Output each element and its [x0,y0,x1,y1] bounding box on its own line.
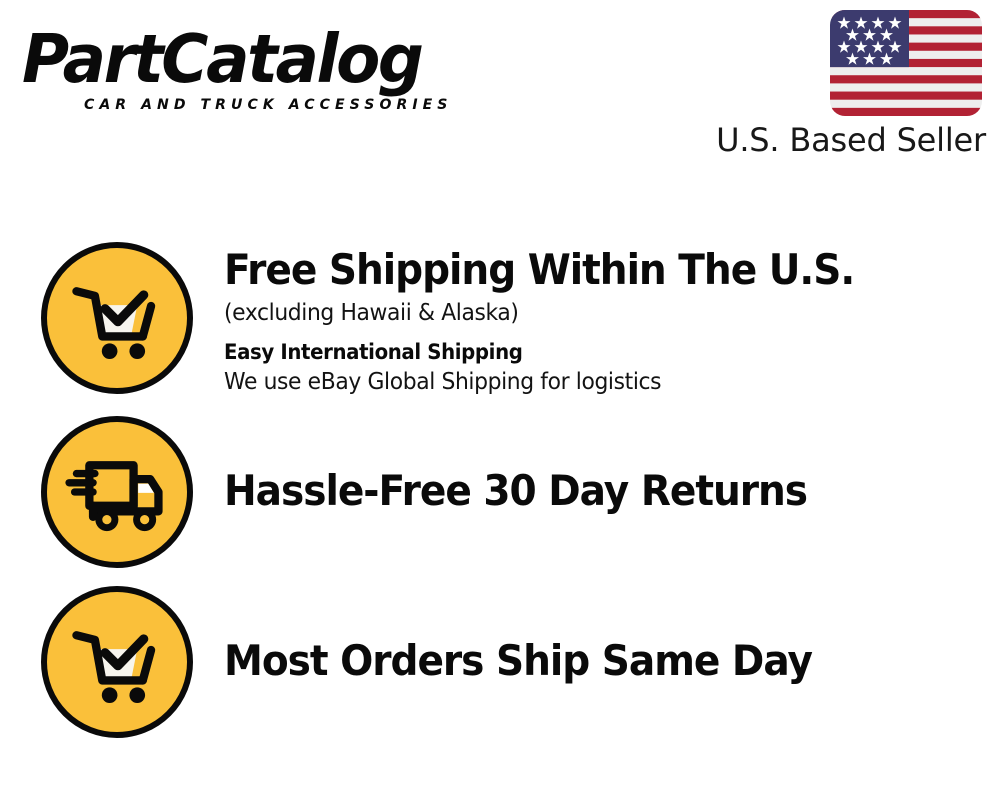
feature-icon-wrap [41,586,193,738]
feature-title: Most Orders Ship Same Day [224,635,946,687]
feature-note: (excluding Hawaii & Alaska) [224,296,961,330]
brand-wordmark: PartCatalog [22,22,422,96]
feature-title: Free Shipping Within The U.S. [224,244,946,296]
feature-title: Hassle-Free 30 Day Returns [224,465,946,517]
feature-row: Hassle-Free 30 Day Returns [0,416,1000,568]
page-header: PartCatalog CAR AND TRUCK ACCESSORIES [0,0,1000,175]
brand-logo[interactable]: PartCatalog CAR AND TRUCK ACCESSORIES [22,22,492,120]
brand-tagline: CAR AND TRUCK ACCESSORIES [84,96,452,114]
delivery-truck-icon [41,416,193,568]
us-flag-icon [830,10,982,116]
feature-text: Free Shipping Within The U.S. (excluding… [193,242,1000,399]
shopping-cart-check-icon [41,586,193,738]
feature-text: Most Orders Ship Same Day [193,586,1000,687]
feature-sub-note: We use eBay Global Shipping for logistic… [224,366,961,399]
shopping-cart-check-icon [41,242,193,394]
feature-icon-wrap [41,416,193,568]
feature-row: Most Orders Ship Same Day [0,586,1000,738]
seller-label: U.S. Based Seller [708,120,986,160]
feature-icon-wrap [41,242,193,394]
feature-row: Free Shipping Within The U.S. (excluding… [0,242,1000,399]
seller-badge: U.S. Based Seller [708,10,988,160]
feature-sub-title: Easy International Shipping [224,338,953,366]
feature-text: Hassle-Free 30 Day Returns [193,416,1000,517]
